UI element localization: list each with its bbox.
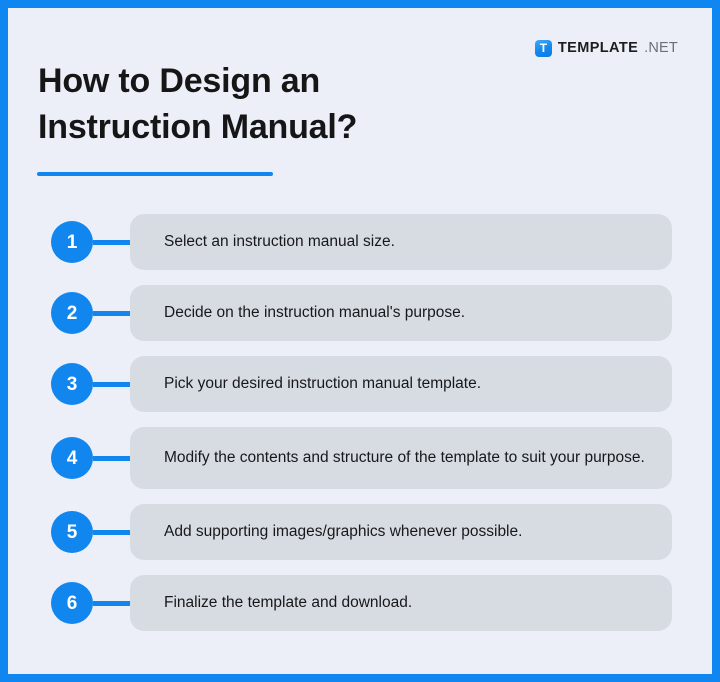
step-number-badge: 4 bbox=[51, 437, 93, 479]
step-connector-line bbox=[93, 456, 135, 461]
list-item: 5 Add supporting images/graphics wheneve… bbox=[8, 504, 712, 560]
list-item: 4 Modify the contents and structure of t… bbox=[8, 427, 712, 489]
step-connector-line bbox=[93, 601, 135, 606]
step-text: Modify the contents and structure of the… bbox=[164, 447, 645, 469]
step-pill: Decide on the instruction manual's purpo… bbox=[130, 285, 672, 341]
step-number-badge: 2 bbox=[51, 292, 93, 334]
list-item: 3 Pick your desired instruction manual t… bbox=[8, 356, 712, 412]
template-net-icon: T bbox=[535, 40, 552, 57]
step-pill: Add supporting images/graphics whenever … bbox=[130, 504, 672, 560]
brand-name: TEMPLATE bbox=[558, 41, 638, 56]
list-item: 1 Select an instruction manual size. bbox=[8, 214, 712, 270]
page-title-line-1: How to Design an bbox=[38, 58, 558, 104]
step-connector-line bbox=[93, 311, 135, 316]
step-number-badge: 1 bbox=[51, 221, 93, 263]
step-text: Decide on the instruction manual's purpo… bbox=[164, 302, 465, 324]
step-connector-line bbox=[93, 240, 135, 245]
page-title-line-2: Instruction Manual? bbox=[38, 104, 558, 150]
poster-canvas: T TEMPLATE.NET How to Design an Instruct… bbox=[0, 0, 720, 682]
step-text: Add supporting images/graphics whenever … bbox=[164, 521, 522, 543]
brand-mark-letter: T bbox=[540, 42, 547, 54]
list-item: 6 Finalize the template and download. bbox=[8, 575, 712, 631]
step-connector-line bbox=[93, 530, 135, 535]
step-number-badge: 5 bbox=[51, 511, 93, 553]
step-text: Select an instruction manual size. bbox=[164, 231, 395, 253]
step-pill: Select an instruction manual size. bbox=[130, 214, 672, 270]
step-number-badge: 6 bbox=[51, 582, 93, 624]
step-pill: Finalize the template and download. bbox=[130, 575, 672, 631]
poster-content: T TEMPLATE.NET How to Design an Instruct… bbox=[8, 8, 712, 674]
brand-logo: T TEMPLATE.NET bbox=[535, 39, 678, 57]
brand-tld: .NET bbox=[644, 41, 678, 56]
list-item: 2 Decide on the instruction manual's pur… bbox=[8, 285, 712, 341]
step-text: Pick your desired instruction manual tem… bbox=[164, 373, 481, 395]
steps-list: 1 Select an instruction manual size. 2 D… bbox=[8, 214, 712, 646]
page-title: How to Design an Instruction Manual? bbox=[38, 58, 558, 150]
step-text: Finalize the template and download. bbox=[164, 592, 412, 614]
step-pill: Modify the contents and structure of the… bbox=[130, 427, 672, 489]
step-number-badge: 3 bbox=[51, 363, 93, 405]
step-connector-line bbox=[93, 382, 135, 387]
step-pill: Pick your desired instruction manual tem… bbox=[130, 356, 672, 412]
title-accent-bar bbox=[37, 172, 273, 176]
